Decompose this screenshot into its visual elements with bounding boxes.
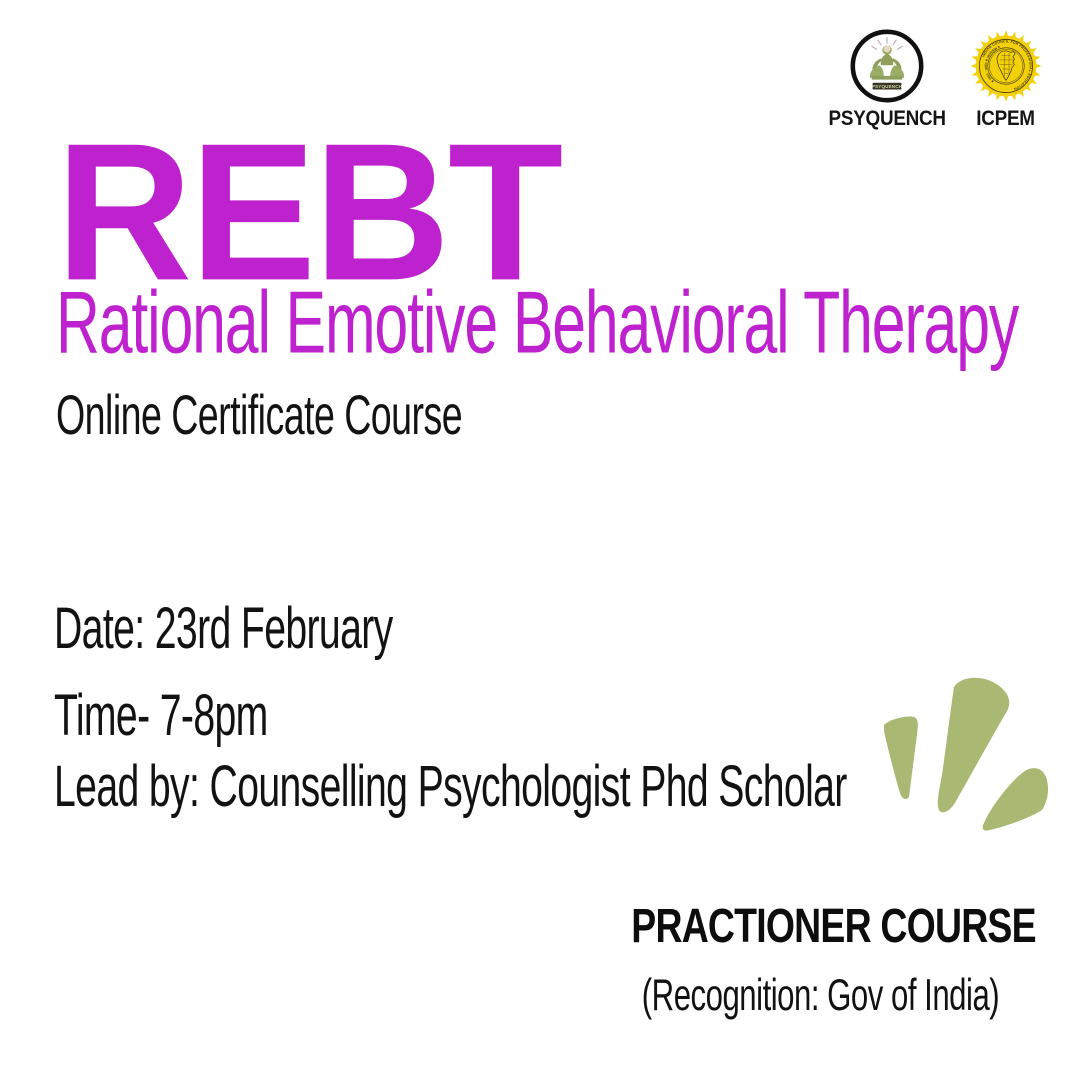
- page-subtitle: Rational Emotive Behavioral Therapy: [56, 278, 866, 367]
- course-format-label: Online Certificate Course: [56, 387, 856, 442]
- logo-caption-psyquench: PSYQUENCH: [828, 107, 945, 131]
- psyquench-circle-logo: PSYQUENCH: [849, 28, 925, 104]
- detail-lead-by: Lead by: Counselling Psychologist Phd Sc…: [54, 758, 758, 817]
- poster-canvas: PSYQUENCH PSYQUENCH: [0, 0, 1080, 1080]
- logo-icpem: INDIAN COUNCIL FOR PROFESSIONAL EDUCATIO…: [968, 28, 1044, 131]
- recognition-label: (Recognition: Gov of India): [642, 974, 986, 1018]
- logo-strip: PSYQUENCH PSYQUENCH: [822, 28, 1044, 131]
- page-title: REBT: [56, 132, 1080, 293]
- burst-wedge-right: [983, 768, 1048, 831]
- svg-text:PSYQUENCH: PSYQUENCH: [872, 84, 902, 89]
- course-details: Date: 23rd February Time- 7-8pm Lead by:…: [54, 600, 934, 807]
- logo-caption-icpem: ICPEM: [977, 107, 1036, 131]
- detail-date: Date: 23rd February: [54, 600, 758, 659]
- logo-psyquench: PSYQUENCH PSYQUENCH: [822, 28, 952, 131]
- headline-block: REBT Rational Emotive Behavioral Therapy…: [56, 132, 1056, 434]
- icpem-seal-logo: INDIAN COUNCIL FOR PROFESSIONAL EDUCATIO…: [968, 28, 1044, 104]
- footer-block: PRACTIONER COURSE (Recognition: Gov of I…: [604, 903, 1024, 1012]
- course-type-label: PRACTIONER COURSE: [631, 903, 996, 951]
- burst-wedge-center: [938, 678, 1010, 813]
- detail-time: Time- 7-8pm: [54, 687, 758, 746]
